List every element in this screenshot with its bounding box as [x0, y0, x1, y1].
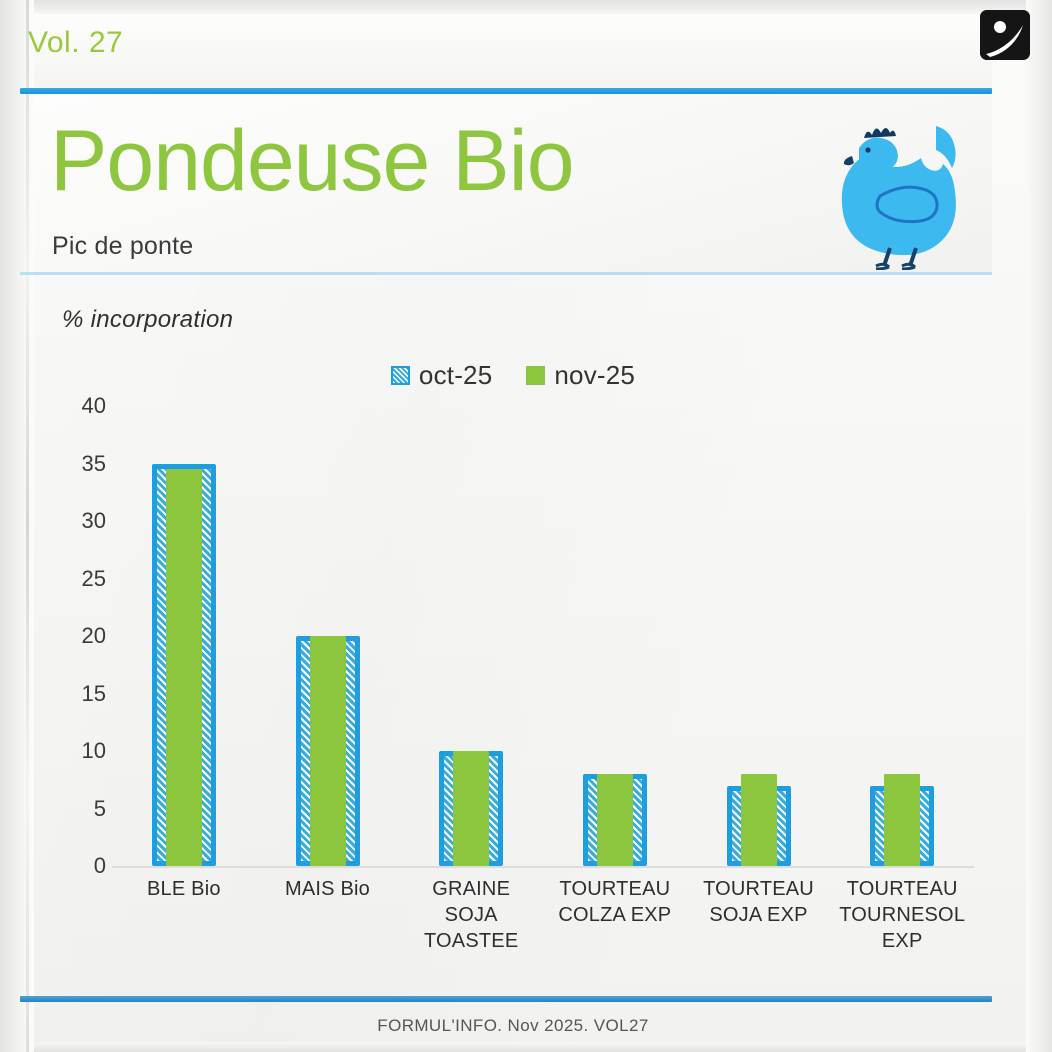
legend-swatch-oct-icon [391, 366, 410, 385]
bar-group[interactable] [256, 406, 400, 866]
bar-group[interactable] [399, 406, 543, 866]
document-page: Vol. 27 Pondeuse Bio Pic de ponte [0, 0, 1052, 1052]
y-tick-0: 0 [34, 853, 106, 879]
chart: % incorporation oct-25 nov-25 4035302520… [34, 278, 992, 990]
chart-legend: oct-25 nov-25 [34, 360, 992, 391]
y-tick-5: 5 [34, 796, 106, 822]
legend-swatch-nov-icon [526, 366, 545, 385]
page-crease [26, 0, 29, 1052]
bar-nov-25[interactable] [310, 636, 346, 866]
y-tick-40: 40 [34, 393, 106, 419]
chart-x-axis-line [112, 866, 974, 868]
bar-nov-25[interactable] [884, 774, 920, 866]
title-divider [20, 272, 992, 275]
blue-hen-icon [828, 108, 978, 270]
y-tick-35: 35 [34, 451, 106, 477]
page-title: Pondeuse Bio [50, 118, 574, 204]
bar-group[interactable] [543, 406, 687, 866]
y-tick-30: 30 [34, 508, 106, 534]
x-tick-label: GRAINE SOJA TOASTEE [399, 876, 543, 954]
x-tick-label: TOURTEAU COLZA EXP [543, 876, 687, 954]
bar-group[interactable] [112, 406, 256, 866]
footer-text: FORMUL'INFO. Nov 2025. VOL27 [34, 1016, 992, 1036]
bar-nov-25[interactable] [741, 774, 777, 866]
volume-label: Vol. 27 [28, 26, 123, 60]
y-tick-25: 25 [34, 566, 106, 592]
y-tick-10: 10 [34, 738, 106, 764]
y-tick-20: 20 [34, 623, 106, 649]
bar-nov-25[interactable] [453, 751, 489, 866]
bar-group[interactable] [830, 406, 974, 866]
x-tick-label: TOURTEAU TOURNESOL EXP [830, 876, 974, 954]
chart-bars [112, 406, 974, 866]
x-tick-label: BLE Bio [112, 876, 256, 954]
legend-item-nov[interactable]: nov-25 [526, 360, 635, 391]
header-divider [20, 88, 992, 94]
page-bottom-edge [0, 1042, 1052, 1052]
page-top-edge [0, 0, 1052, 14]
page-subtitle: Pic de ponte [52, 232, 193, 261]
legend-item-oct[interactable]: oct-25 [391, 360, 492, 391]
chart-y-axis: 4035302520151050 [34, 406, 106, 866]
header-band [34, 14, 992, 90]
x-tick-label: TOURTEAU SOJA EXP [687, 876, 831, 954]
x-tick-label: MAIS Bio [256, 876, 400, 954]
bar-group[interactable] [687, 406, 831, 866]
y-tick-15: 15 [34, 681, 106, 707]
legend-label-nov: nov-25 [554, 360, 635, 391]
bar-nov-25[interactable] [597, 774, 633, 866]
bar-nov-25[interactable] [166, 469, 202, 866]
brand-swoosh-icon [980, 10, 1030, 60]
legend-label-oct: oct-25 [419, 360, 492, 391]
footer-divider [20, 996, 992, 1002]
chart-plot-area: 4035302520151050 BLE BioMAIS BioGRAINE S… [34, 406, 992, 866]
chart-y-axis-title: % incorporation [62, 306, 233, 334]
page-right-edge [1026, 0, 1052, 1052]
chart-x-axis-labels: BLE BioMAIS BioGRAINE SOJA TOASTEETOURTE… [112, 876, 974, 954]
